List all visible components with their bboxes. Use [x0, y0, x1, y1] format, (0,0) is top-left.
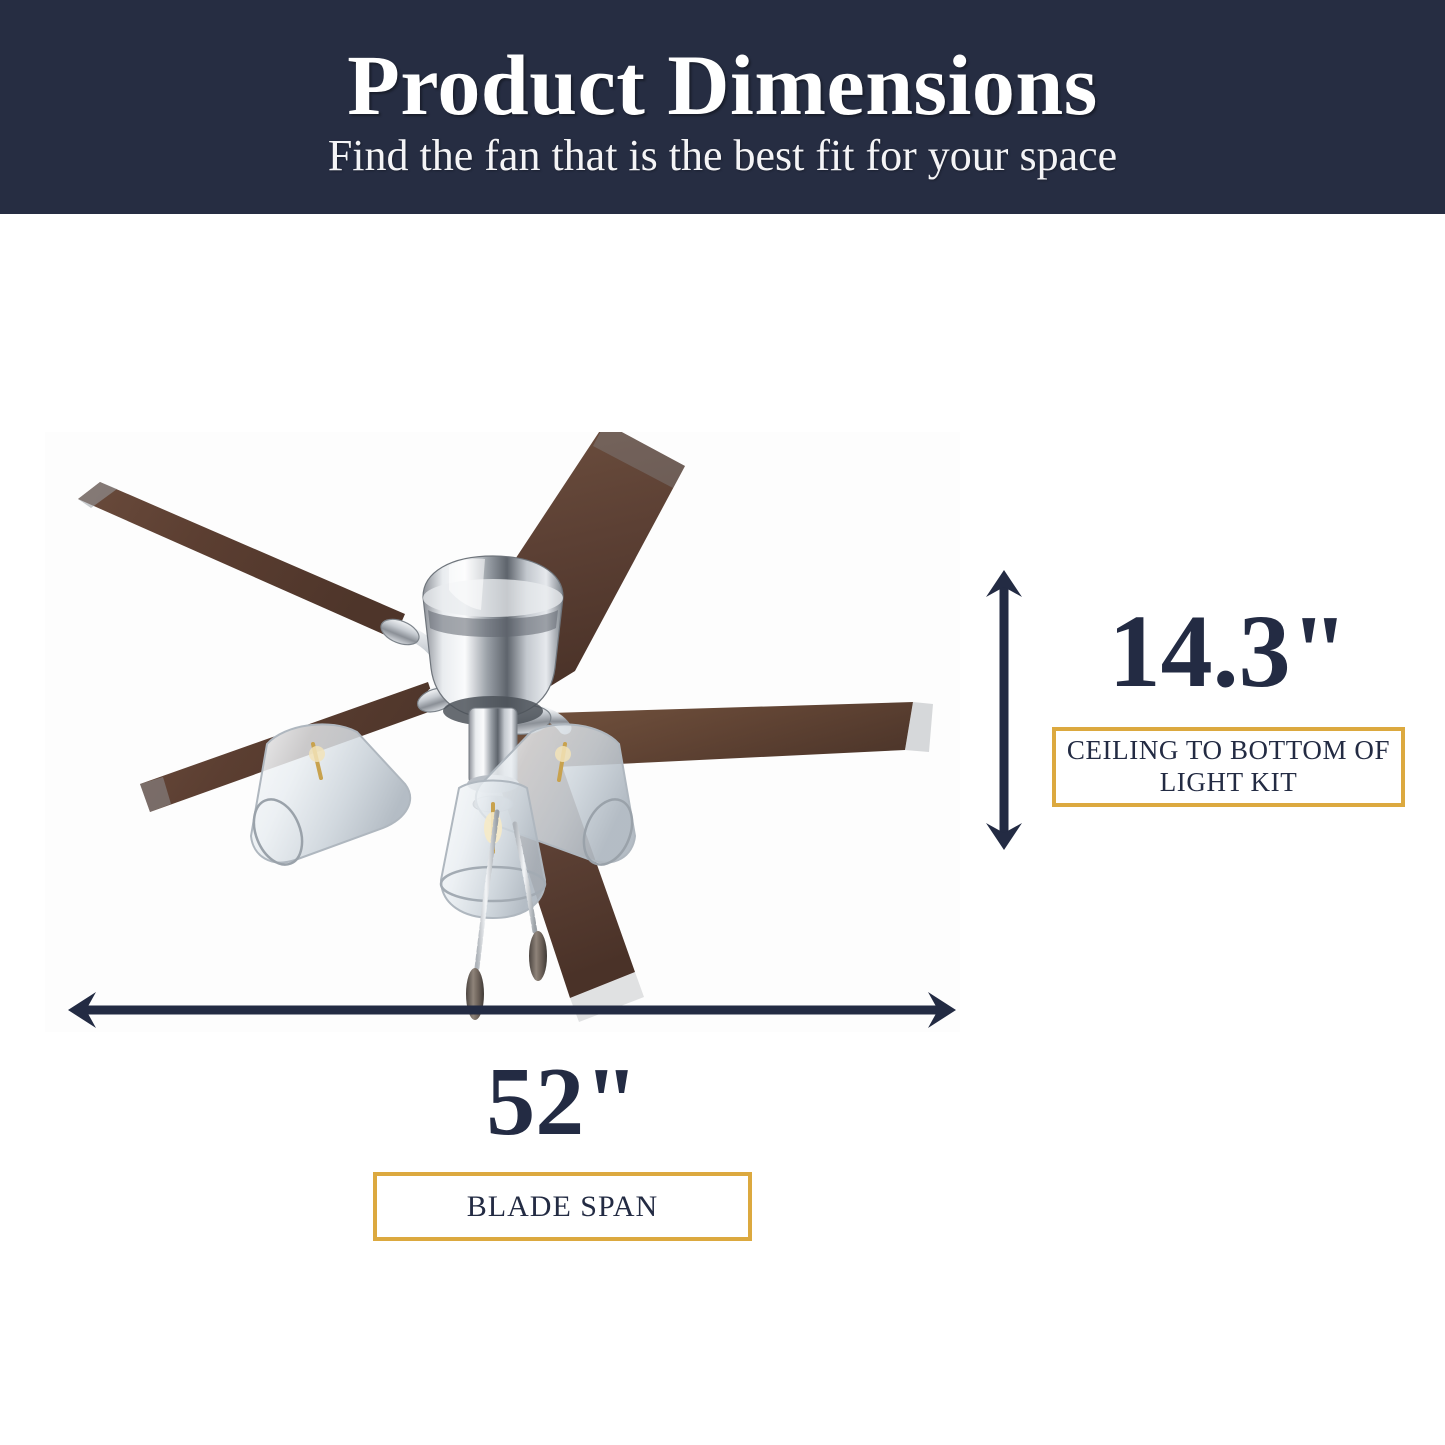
width-dimension-arrow — [62, 988, 962, 1032]
ceiling-fan-illustration — [45, 432, 960, 1032]
light-shade-left — [245, 724, 410, 871]
width-caption-label: BLADE SPAN — [459, 1189, 666, 1224]
height-caption-box: CEILING TO BOTTOM OF LIGHT KIT — [1052, 727, 1405, 807]
page-title: Product Dimensions — [347, 42, 1097, 128]
height-dimension-value: 14.3" — [1052, 600, 1405, 704]
page-header: Product Dimensions Find the fan that is … — [0, 0, 1445, 214]
infographic-page: Product Dimensions Find the fan that is … — [0, 0, 1445, 1445]
width-dimension-value: 52" — [373, 1053, 752, 1151]
height-dimension-arrow — [978, 565, 1030, 855]
width-caption-box: BLADE SPAN — [373, 1172, 752, 1241]
page-subtitle: Find the fan that is the best fit for yo… — [328, 134, 1117, 178]
product-photo — [45, 432, 960, 1032]
fan-blade-upper-left — [78, 482, 405, 639]
height-caption-label: CEILING TO BOTTOM OF LIGHT KIT — [1056, 735, 1401, 799]
